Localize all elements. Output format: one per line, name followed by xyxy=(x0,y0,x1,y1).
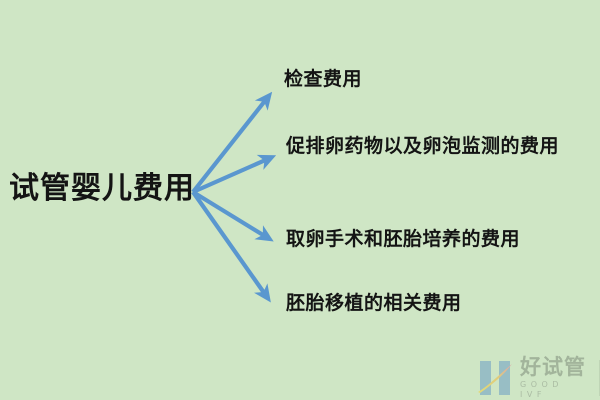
logo-text: 好试管 GOOD IVF xyxy=(520,356,591,399)
branch-label-ovulation-drug-fee: 促排卵药物以及卵泡监测的费用 xyxy=(286,137,559,156)
arrow-branch-0 xyxy=(193,97,268,192)
branch-label-inspection-fee: 检查费用 xyxy=(284,70,362,89)
arrow-branch-3 xyxy=(193,192,267,297)
diagram-canvas: 试管婴儿费用 检查费用 促排卵药物以及卵泡监测的费用 取卵手术和胚胎培养的费用 … xyxy=(0,0,600,400)
watermark: 好试管 GOOD IVF xyxy=(474,356,600,399)
logo-name: 好试管 xyxy=(520,356,591,378)
branch-label-egg-retrieval-fee: 取卵手术和胚胎培养的费用 xyxy=(286,230,520,249)
arrow-branch-2 xyxy=(193,192,268,238)
h-bars-swoosh-logo-icon xyxy=(474,358,516,398)
root-node-label: 试管婴儿费用 xyxy=(9,174,195,204)
logo-swoosh-icon xyxy=(474,358,516,398)
branch-label-embryo-transfer-fee: 胚胎移植的相关费用 xyxy=(286,294,462,313)
logo-tagline: GOOD IVF xyxy=(520,380,591,399)
